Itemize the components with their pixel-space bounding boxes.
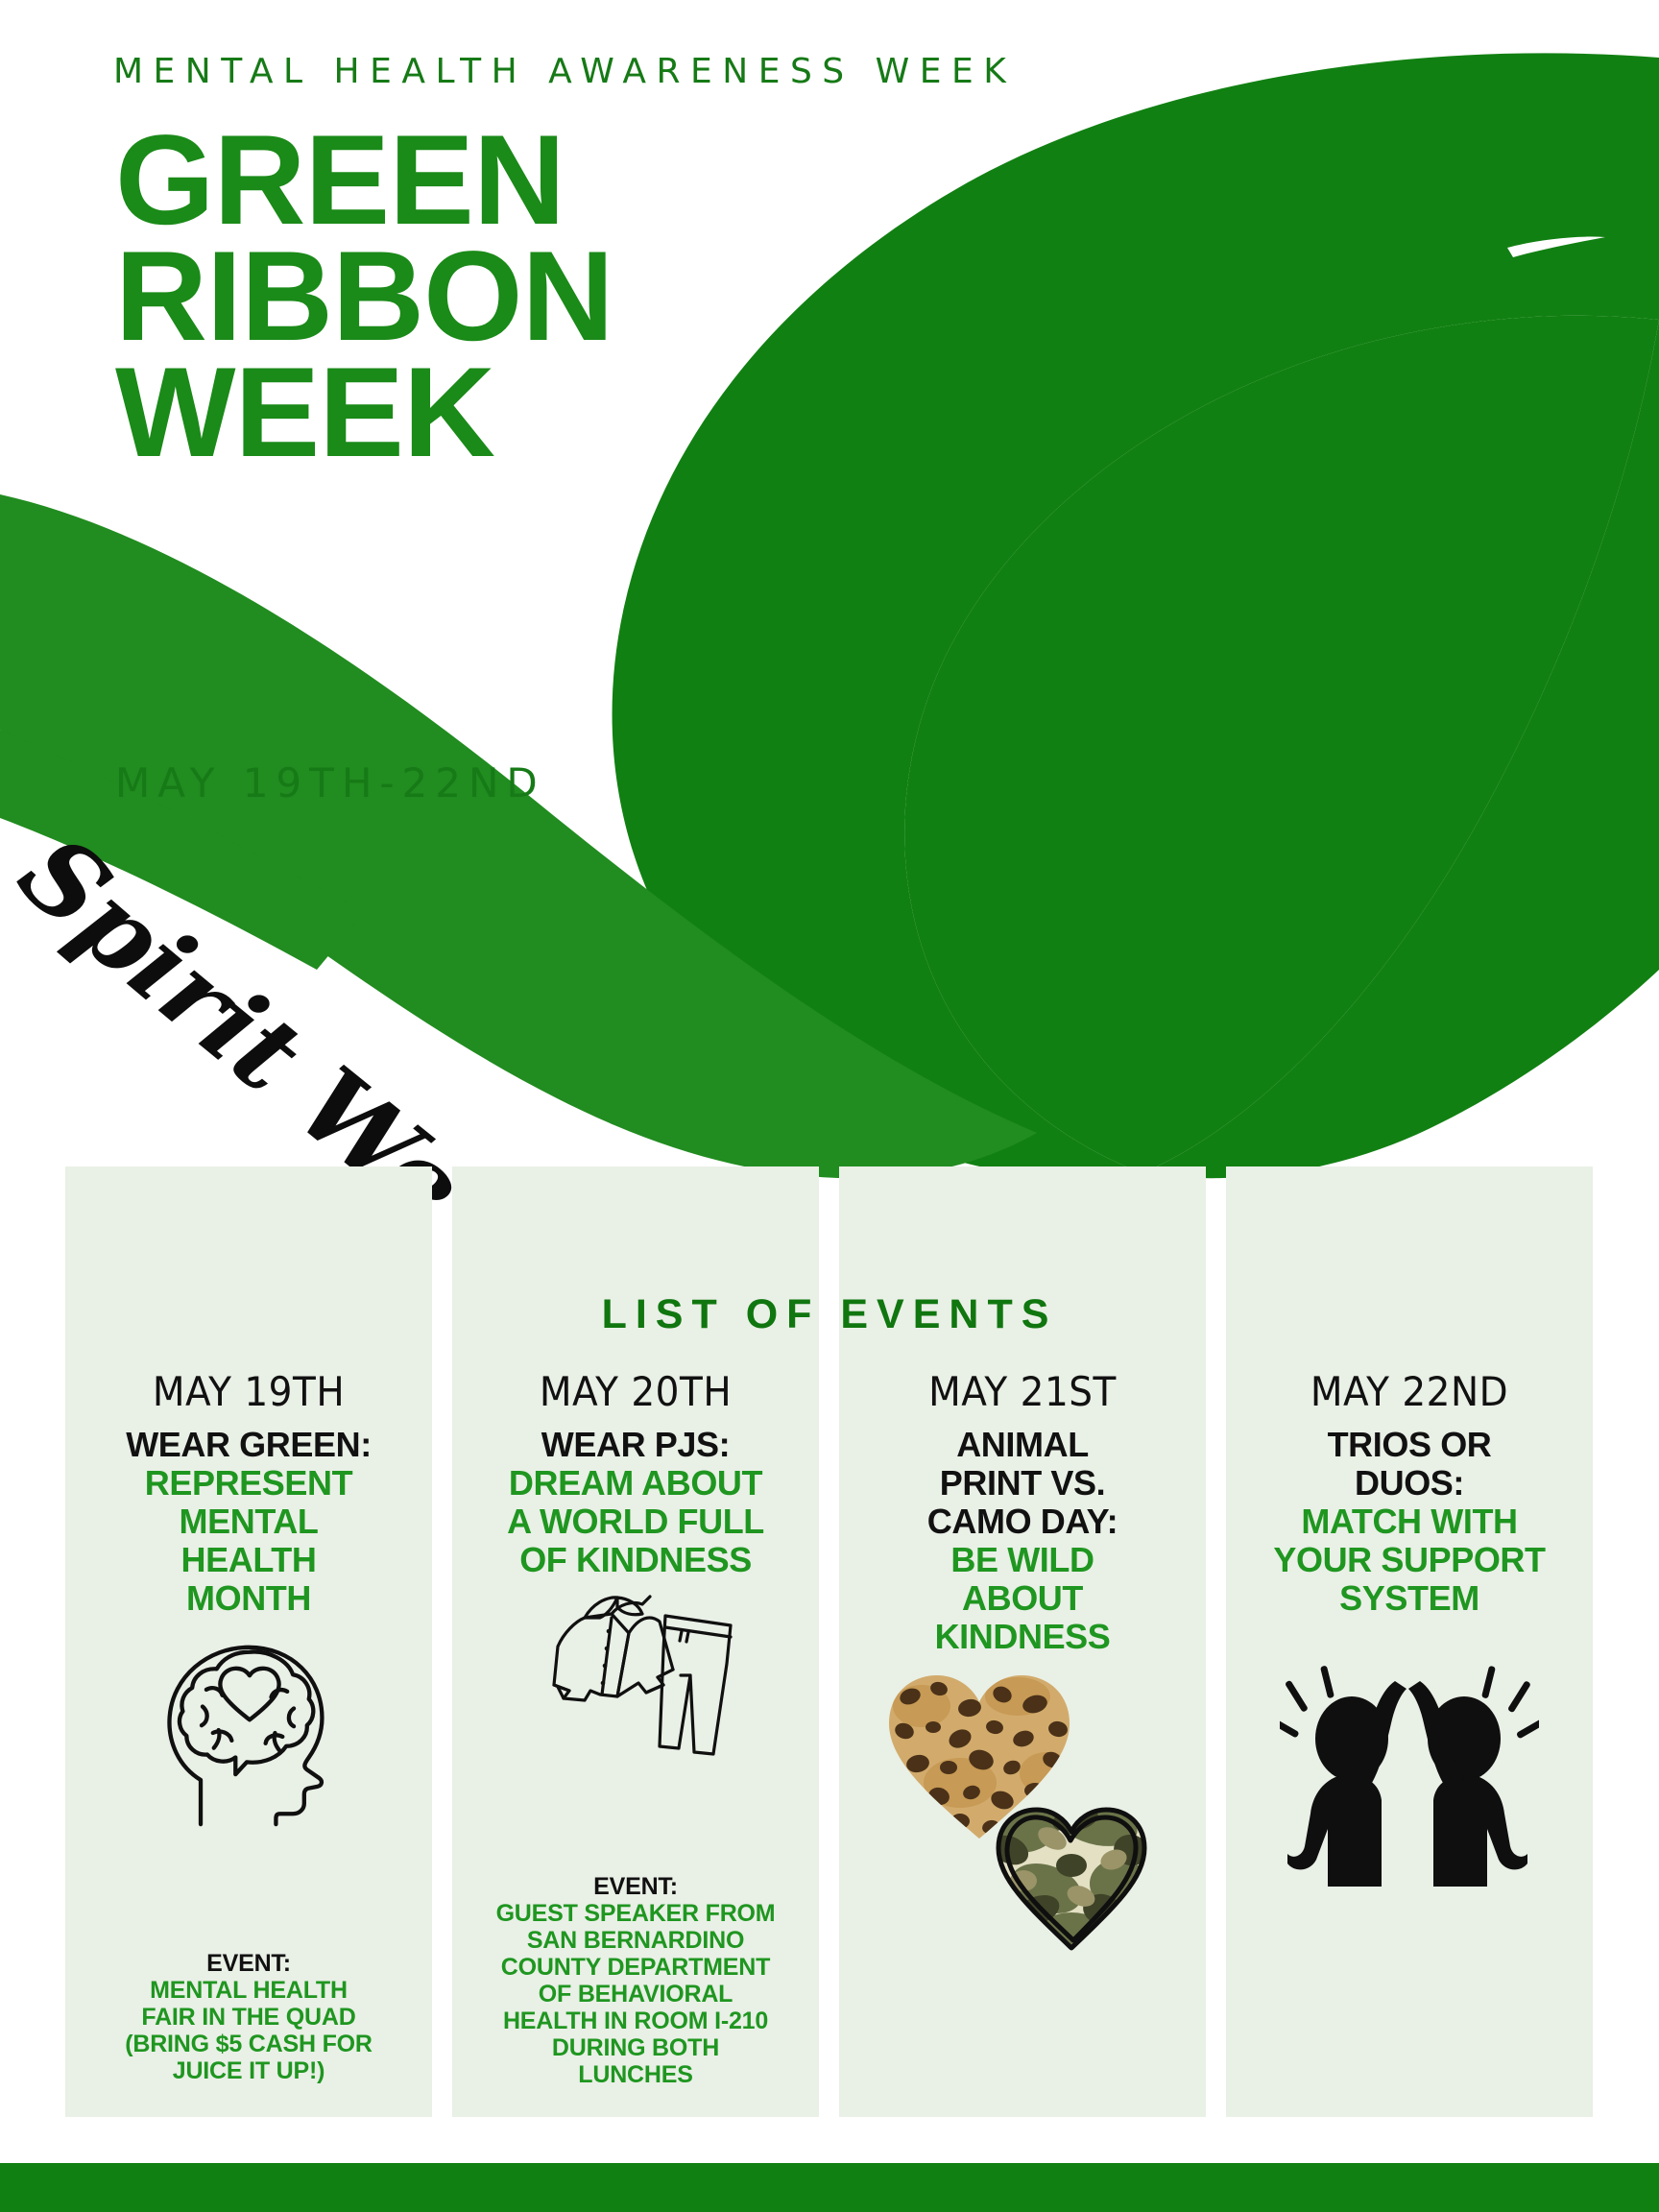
event-line: LUNCHES: [462, 2061, 809, 2088]
leopard-camo-hearts-icon: [883, 1668, 1162, 1956]
ribbon-loop-outer: [1142, 58, 1659, 1178]
date-range: MAY 19TH-22ND: [115, 759, 545, 806]
event-subtitle: REPRESENT MENTAL HEALTH MONTH: [79, 1464, 419, 1618]
title-line-2: RIBBON: [115, 239, 710, 355]
theme-line: PRINT VS.: [853, 1464, 1192, 1503]
event-line: HEALTH IN ROOM I-210: [462, 2008, 809, 2034]
pajamas-icon: [525, 1583, 746, 1775]
event-theme: WEAR GREEN:: [79, 1426, 419, 1464]
title-line-1: GREEN: [115, 123, 710, 239]
event-line: DURING BOTH: [462, 2034, 809, 2061]
event-date: MAY 19TH: [79, 1372, 419, 1413]
head-brain-heart-icon: [155, 1639, 343, 1827]
event-line: OF BEHAVIORAL: [462, 1981, 809, 2008]
event-date: MAY 21ST: [853, 1372, 1192, 1413]
subtitle-line: MATCH WITH: [1239, 1503, 1579, 1541]
bottom-bar: [0, 2163, 1659, 2212]
theme-line: TRIOS OR: [1239, 1426, 1579, 1464]
event-line: SAN BERNARDINO: [462, 1927, 809, 1954]
event-date: MAY 20TH: [466, 1372, 805, 1413]
event-line: MENTAL HEALTH: [79, 1977, 419, 2004]
subtitle-line: MONTH: [79, 1579, 419, 1618]
theme-line: CAMO DAY:: [853, 1503, 1192, 1541]
icon-slot: [466, 1583, 805, 1775]
subtitle-line: BE WILD: [853, 1541, 1192, 1579]
awareness-kicker: MENTAL HEALTH AWARENESS WEEK: [113, 52, 1016, 91]
ribbon-loop-right: [904, 316, 1659, 1173]
event-subtitle: DREAM ABOUT A WORLD FULL OF KINDNESS: [466, 1464, 805, 1579]
icon-slot: [79, 1639, 419, 1827]
theme-line: DUOS:: [1239, 1464, 1579, 1503]
high-five-icon: [1280, 1656, 1539, 1887]
page-title: GREEN RIBBON WEEK: [115, 123, 710, 471]
event-theme: WEAR PJS:: [466, 1426, 805, 1464]
subtitle-line: HEALTH: [79, 1541, 419, 1579]
event-subtitle: MATCH WITH YOUR SUPPORT SYSTEM: [1239, 1503, 1579, 1618]
icon-slot: [1239, 1656, 1579, 1887]
event-details: EVENT: MENTAL HEALTH FAIR IN THE QUAD (B…: [79, 1950, 419, 2084]
subtitle-line: DREAM ABOUT: [466, 1464, 805, 1503]
event-theme: ANIMAL PRINT VS. CAMO DAY:: [853, 1426, 1192, 1541]
event-line: (BRING $5 CASH FOR: [79, 2031, 419, 2057]
subtitle-line: MENTAL: [79, 1503, 419, 1541]
section-heading: LIST OF EVENTS: [0, 1291, 1659, 1338]
event-details: EVENT: GUEST SPEAKER FROM SAN BERNARDINO…: [462, 1873, 809, 2088]
event-line: COUNTY DEPARTMENT: [462, 1954, 809, 1981]
subtitle-line: YOUR SUPPORT: [1239, 1541, 1579, 1579]
ribbon-loop: [613, 53, 1659, 1177]
ribbon-tail: [0, 494, 1037, 1178]
subtitle-line: OF KINDNESS: [466, 1541, 805, 1579]
title-line-3: WEEK: [115, 355, 710, 471]
subtitle-line: REPRESENT: [79, 1464, 419, 1503]
poster-canvas: MENTAL HEALTH AWARENESS WEEK GREEN RIBBO…: [0, 0, 1659, 2212]
ribbon-highlight: [1507, 237, 1605, 257]
event-theme: TRIOS OR DUOS:: [1239, 1426, 1579, 1503]
event-line: FAIR IN THE QUAD: [79, 2004, 419, 2031]
subtitle-line: A WORLD FULL: [466, 1503, 805, 1541]
subtitle-line: KINDNESS: [853, 1618, 1192, 1656]
event-date: MAY 22ND: [1239, 1372, 1579, 1413]
event-subtitle: BE WILD ABOUT KINDNESS: [853, 1541, 1192, 1656]
subtitle-line: SYSTEM: [1239, 1579, 1579, 1618]
icon-slot: [853, 1668, 1192, 1956]
theme-line: ANIMAL: [853, 1426, 1192, 1464]
subtitle-line: ABOUT: [853, 1579, 1192, 1618]
event-line: GUEST SPEAKER FROM: [462, 1900, 809, 1927]
event-label: EVENT:: [79, 1950, 419, 1977]
event-line: JUICE IT UP!): [79, 2057, 419, 2084]
event-label: EVENT:: [462, 1873, 809, 1900]
